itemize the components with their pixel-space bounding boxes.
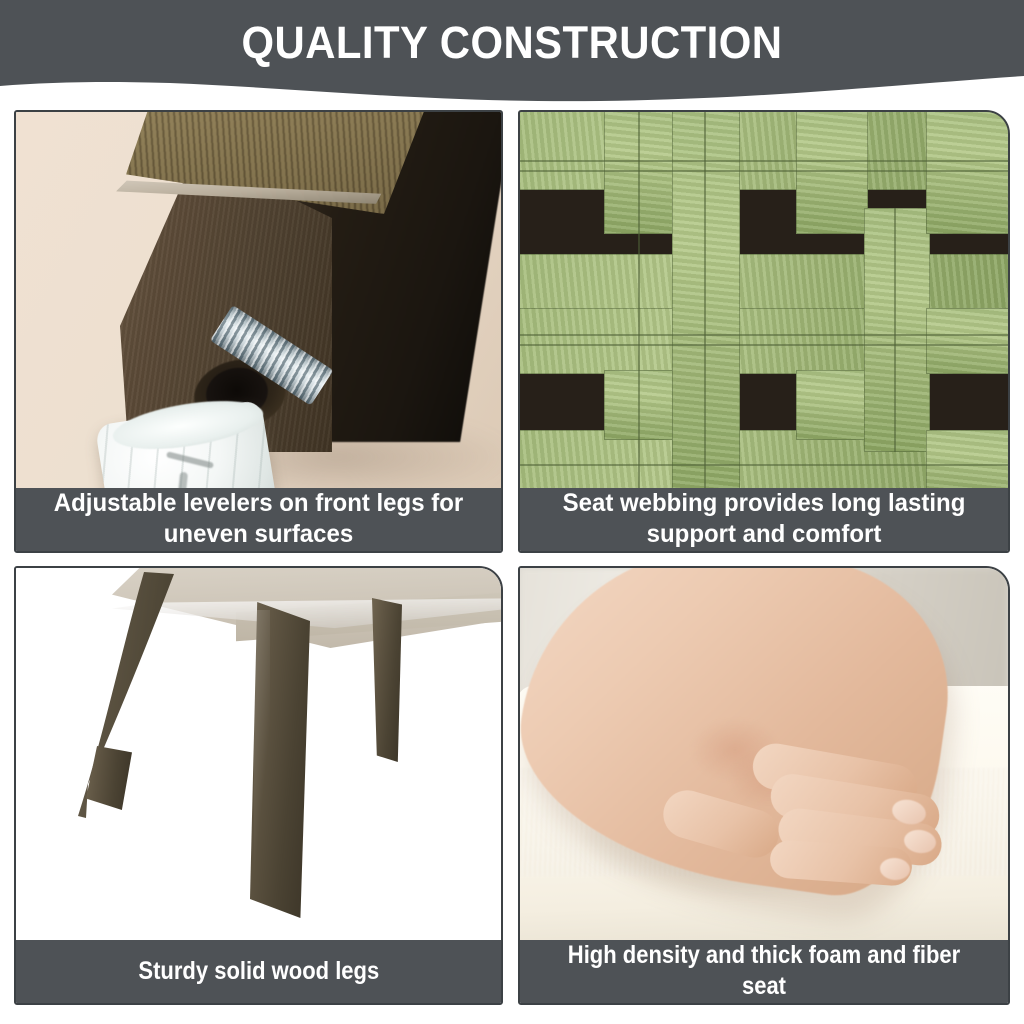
webbing-strap-vertical-5a — [926, 112, 1008, 234]
caption-foam-fiber-seat: High density and thick foam and fiber se… — [520, 940, 1008, 1003]
webbing-strap-vertical-1a — [604, 112, 678, 234]
webbing-stitch-line-6 — [638, 112, 640, 488]
webbing-stitch-line-5 — [520, 464, 1008, 466]
webbing-strap-vertical-2 — [672, 112, 740, 488]
webbing-stitch-line-2 — [520, 170, 1008, 172]
leg-highlight — [254, 610, 270, 910]
caption-seat-webbing: Seat webbing provides long lasting suppo… — [520, 488, 1008, 551]
webbing-strap-vertical-4 — [864, 208, 930, 452]
webbing-strap-vertical-1b — [604, 370, 678, 440]
webbing-strap-vertical-3b — [796, 370, 868, 440]
caption-text: High density and thick foam and fiber se… — [556, 940, 971, 1002]
caption-text: Seat webbing provides long lasting suppo… — [537, 488, 990, 550]
feature-card-adjustable-levelers[interactable]: Adjustable levelers on front legs for un… — [14, 110, 503, 553]
caption-adjustable-levelers: Adjustable levelers on front legs for un… — [16, 488, 501, 551]
feature-card-seat-webbing[interactable]: Seat webbing provides long lasting suppo… — [518, 110, 1010, 553]
webbing-stitch-line-1 — [520, 160, 1008, 162]
feature-card-foam-fiber-seat[interactable]: High density and thick foam and fiber se… — [518, 566, 1010, 1005]
infographic-root: QUALITY CONSTRUCTION — [0, 0, 1024, 1024]
webbing-strap-vertical-5b — [926, 308, 1008, 374]
page-title: QUALITY CONSTRUCTION — [36, 19, 988, 67]
wood-leg-back-right — [372, 598, 402, 762]
webbing-stitch-line-8 — [894, 208, 896, 452]
caption-text: Sturdy solid wood legs — [138, 956, 379, 987]
webbing-strap-horizontal-2 — [520, 254, 1008, 316]
webbing-stitch-line-7 — [704, 112, 706, 488]
caption-solid-wood-legs: Sturdy solid wood legs — [16, 940, 501, 1003]
webbing-strap-vertical-5c — [926, 430, 1008, 488]
photo-adjustable-leveler — [16, 112, 501, 488]
webbing-strap-vertical-3a — [796, 112, 868, 234]
webbing-stitch-line-4 — [520, 344, 1008, 346]
photo-seat-webbing — [520, 112, 1008, 488]
wood-leg-front-center — [250, 602, 310, 918]
photo-hand-pressing-foam — [520, 568, 1008, 940]
caption-text: Adjustable levelers on front legs for un… — [33, 488, 483, 550]
feature-card-solid-wood-legs[interactable]: Sturdy solid wood legs — [14, 566, 503, 1005]
webbing-stitch-line-3 — [520, 334, 1008, 336]
photo-solid-wood-legs — [16, 568, 501, 940]
